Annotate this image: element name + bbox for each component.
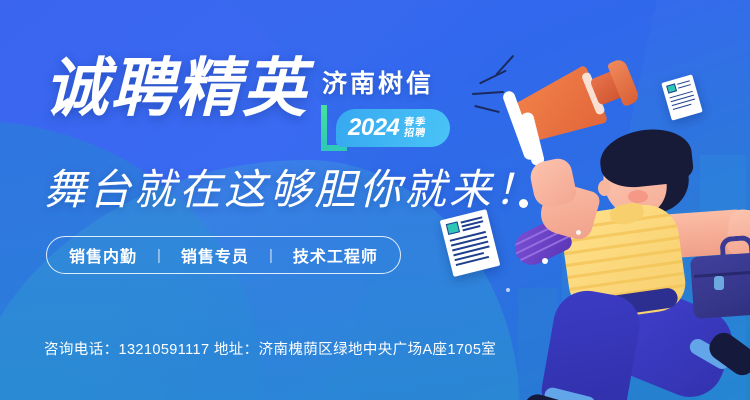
position-separator: | [249,247,293,264]
badge-subtext-line1: 春季 [404,118,427,129]
decorative-dot [542,258,548,264]
badge-year: 2024 [348,116,399,140]
position-item-sales-specialist: 销售专员 [181,243,249,267]
briefcase-latch [714,276,724,290]
contact-info: 咨询电话：13210591117 地址：济南槐荫区绿地中央广场A座1705室 [44,338,496,359]
position-separator: | [137,247,181,264]
decorative-dot [506,288,510,292]
season-badge: 2024 春季 招聘 [322,109,450,149]
subtitle-slogan: 舞台就在这够胆你就来！ [44,156,539,217]
character-blush [628,190,648,203]
recruitment-banner: 诚聘精英 济南树信 2024 春季 招聘 舞台就在这够胆你就来！ 销售内勤 | … [0,0,750,400]
position-item-sales-assistant: 销售内勤 [69,243,137,267]
badge-subtext-line2: 招聘 [404,129,427,140]
badge-subtext: 春季 招聘 [404,117,426,139]
headline-group: 诚聘精英 济南树信 2024 春季 招聘 [44,56,450,149]
brand-name: 济南树信 [322,64,450,100]
decorative-dot [576,230,581,235]
positions-pill: 销售内勤 | 销售专员 | 技术工程师 [46,236,401,274]
headline-title: 诚聘精英 [44,56,308,120]
character-leg-front [538,286,645,400]
brand-group: 济南树信 2024 春季 招聘 [322,56,450,149]
character-ear [598,180,611,196]
position-item-technical-engineer: 技术工程师 [293,243,378,267]
